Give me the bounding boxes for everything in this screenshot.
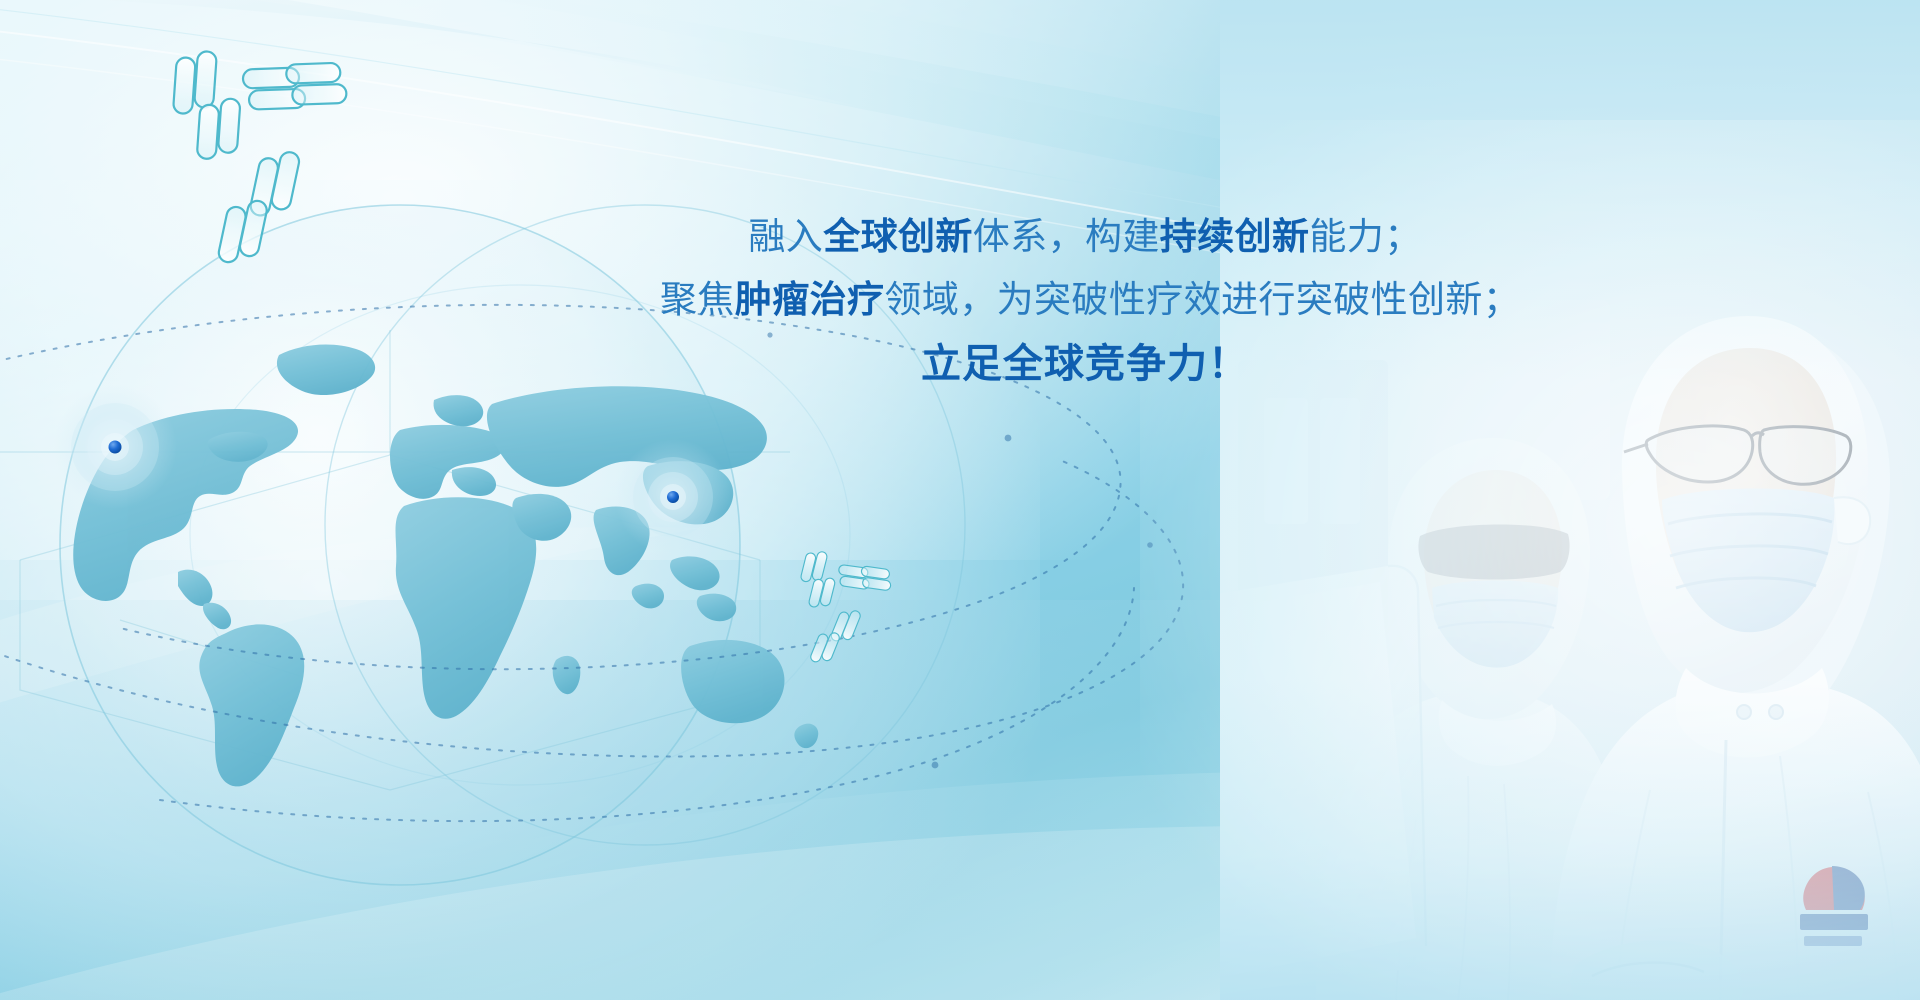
- lab-cleanroom-illustration: [1220, 0, 1920, 1000]
- wave-ribbons-layer: [0, 0, 1920, 1000]
- company-chest-logo: [1800, 866, 1868, 946]
- researcher-back: [1316, 438, 1634, 1000]
- researcher-front: [1550, 316, 1920, 1000]
- background-wash-bottom: [0, 600, 1500, 1000]
- headline-line-2: 聚焦肿瘤治疗领域，为突破性疗效进行突破性创新；: [660, 281, 1510, 318]
- headline-line-2-seg-1: 聚焦: [660, 279, 735, 320]
- headline-line-3: 立足全球竞争力！: [660, 344, 1510, 384]
- headline-block: 融入全球创新体系，构建持续创新能力； 聚焦肿瘤治疗领域，为突破性疗效进行突破性创…: [660, 218, 1510, 384]
- headline-line-1-seg-3: 体系，构建: [973, 216, 1160, 257]
- headline-line-1-seg-1: 融入: [748, 216, 823, 257]
- corporate-hero-banner: 融入全球创新体系，构建持续创新能力； 聚焦肿瘤治疗领域，为突破性疗效进行突破性创…: [0, 0, 1920, 1000]
- headline-line-1-seg-5: 能力；: [1309, 216, 1421, 257]
- chest-logo-back: [1558, 899, 1596, 933]
- photo-left-fade: [1220, 0, 1920, 1000]
- globe-marker-americas: [53, 385, 177, 509]
- headline-line-2-seg-3: 领域，为突破性疗效进行突破性创新；: [884, 279, 1520, 320]
- lab-cleanroom-photo: [1220, 0, 1920, 1000]
- orbit-paths-layer: [0, 0, 1920, 1000]
- headline-line-1-seg-2: 全球创新: [823, 216, 973, 257]
- antibody-icon-center-bottom: [797, 544, 899, 665]
- antibody-icon-top-left: [158, 14, 385, 269]
- headline-line-2-seg-2: 肿瘤治疗: [735, 279, 885, 320]
- headline-line-1-seg-4: 持续创新: [1160, 216, 1310, 257]
- safety-glasses: [1624, 426, 1851, 484]
- globe-marker-asia: [615, 439, 731, 555]
- world-map-globe: [0, 0, 1920, 1000]
- antibody-icons-layer: [0, 0, 1920, 1000]
- gloved-hands: [1570, 940, 1743, 1000]
- lab-monitor: [1220, 566, 1426, 1000]
- photo-bottom-fade: [1220, 680, 1920, 1000]
- headline-line-1: 融入全球创新体系，构建持续创新能力；: [660, 218, 1510, 255]
